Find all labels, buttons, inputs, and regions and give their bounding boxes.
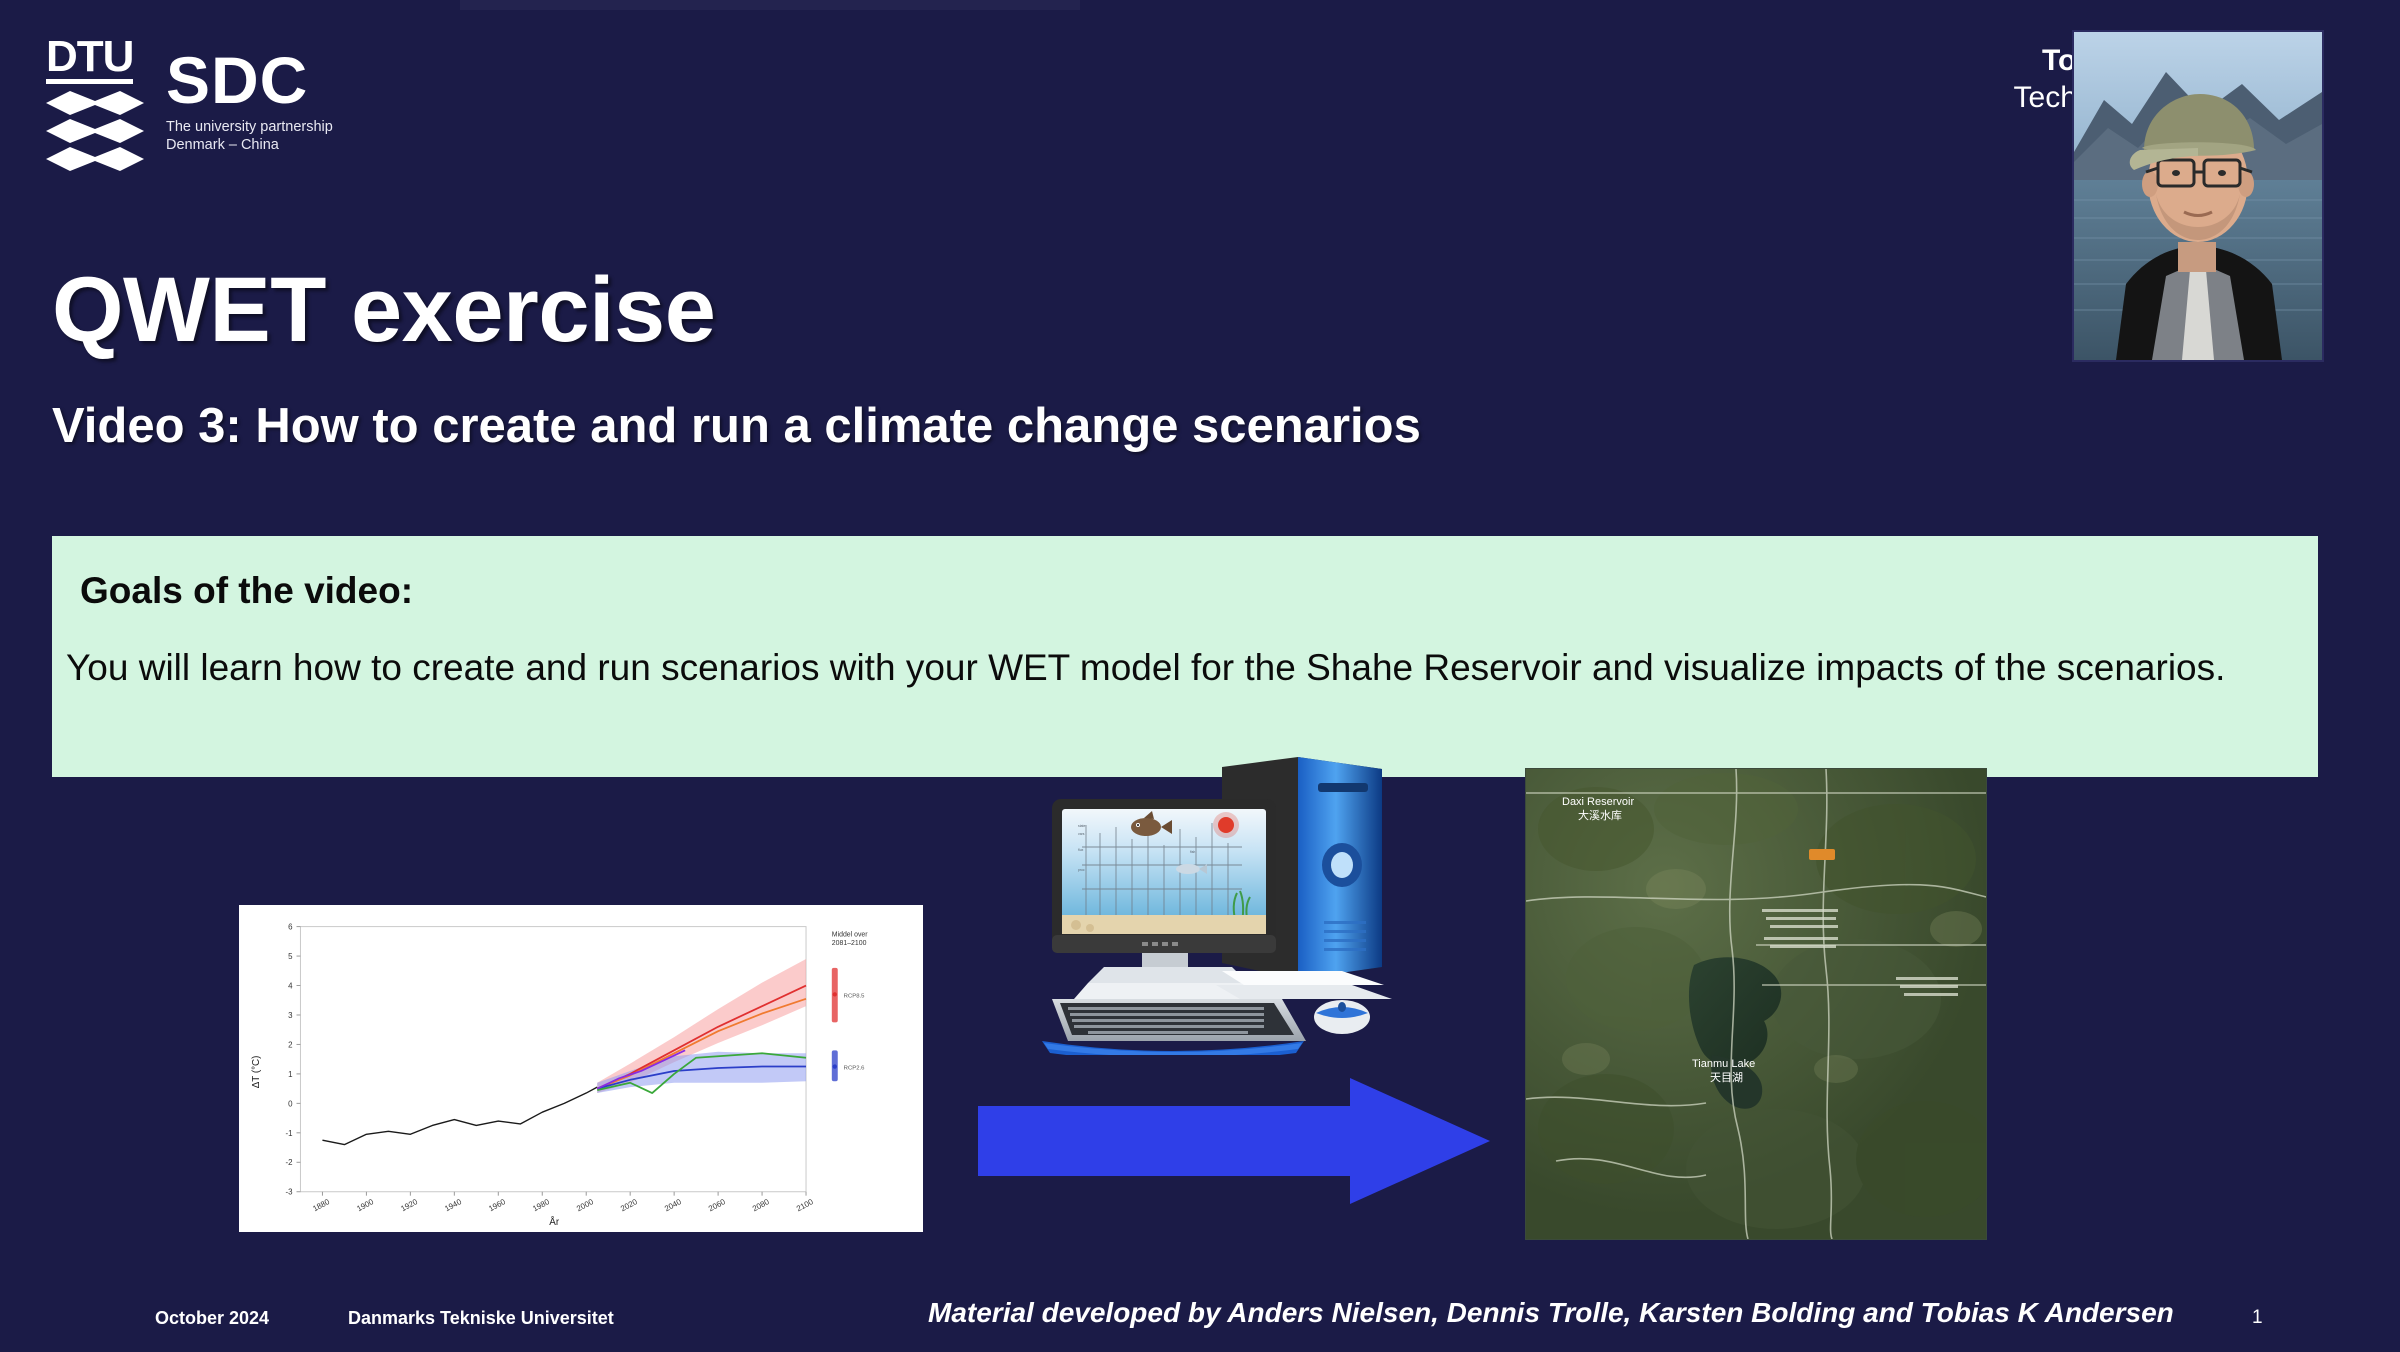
sdc-tagline-line1: The university partnership	[166, 118, 333, 137]
satellite-map-image: Daxi Reservoir 大溪水库 Tianmu Lake 天目湖	[1525, 768, 1987, 1240]
sdc-logo-block: SDC The university partnership Denmark –…	[166, 36, 333, 155]
slide-title: QWET exercise	[52, 258, 715, 363]
footer-date: October 2024	[155, 1308, 269, 1329]
svg-text:5: 5	[288, 952, 293, 961]
map-label-tianmu-lake-en: Tianmu Lake	[1692, 1058, 1755, 1070]
svg-text:fish: fish	[1190, 850, 1195, 854]
desktop-computer-illustration: statevars fluxproc zooplfish	[1030, 755, 1400, 1055]
svg-text:3: 3	[288, 1011, 293, 1020]
right-arrow-shape	[978, 1078, 1490, 1204]
dtu-wordmark: DTU	[46, 36, 133, 84]
footer-page-number: 1	[2252, 1307, 2263, 1329]
sdc-tagline-line2: Denmark – China	[166, 136, 333, 155]
goals-body-text: You will learn how to create and run sce…	[66, 646, 2304, 690]
sdc-wordmark: SDC	[166, 50, 333, 111]
chart-x-axis-label: År	[549, 1217, 560, 1228]
map-label-daxi-reservoir-zh: 大溪水库	[1578, 808, 1622, 822]
chart-y-axis-label: ΔT (°C)	[251, 1056, 262, 1089]
slide-subtitle: Video 3: How to create and run a climate…	[52, 398, 1421, 454]
slide-root: DTU SDC The university partnership Denma…	[0, 0, 2400, 1352]
svg-text:4: 4	[288, 982, 293, 991]
svg-text:RCP8.5: RCP8.5	[844, 993, 865, 999]
footer-credit: Material developed by Anders Nielsen, De…	[928, 1297, 2174, 1329]
presenter-portrait-photo	[2072, 30, 2324, 362]
goals-callout-box: Goals of the video: You will learn how t…	[52, 536, 2318, 777]
svg-text:-2: -2	[285, 1158, 292, 1167]
svg-text:RCP2.6: RCP2.6	[844, 1066, 865, 1072]
svg-text:6: 6	[288, 923, 293, 932]
dtu-wave-icon	[46, 91, 144, 178]
sdc-tagline: The university partnership Denmark – Chi…	[166, 118, 333, 155]
map-label-daxi-reservoir-en: Daxi Reservoir	[1562, 796, 1634, 808]
dtu-logo-mark: DTU	[46, 36, 144, 178]
svg-text:proc: proc	[1078, 868, 1085, 872]
climate-projection-chart: RCP8.5RCP2.6 188019001920194019601980200…	[236, 902, 926, 1235]
svg-text:state: state	[1078, 824, 1085, 828]
svg-text:vars: vars	[1078, 832, 1085, 836]
top-edge-band	[460, 0, 1080, 10]
dtu-sdc-logo: DTU SDC The university partnership Denma…	[46, 36, 333, 178]
svg-text:flux: flux	[1078, 848, 1084, 852]
svg-text:2: 2	[288, 1040, 292, 1049]
svg-text:-1: -1	[285, 1129, 292, 1138]
svg-text:1: 1	[288, 1070, 292, 1079]
goals-heading: Goals of the video:	[80, 570, 2304, 612]
svg-text:0: 0	[288, 1099, 293, 1108]
chart-legend-title: Middel over2081–2100	[832, 931, 868, 947]
footer-university: Danmarks Tekniske Universitet	[348, 1308, 614, 1329]
map-label-tianmu-lake-zh: 天目湖	[1710, 1071, 1743, 1084]
svg-text:-3: -3	[285, 1188, 293, 1197]
